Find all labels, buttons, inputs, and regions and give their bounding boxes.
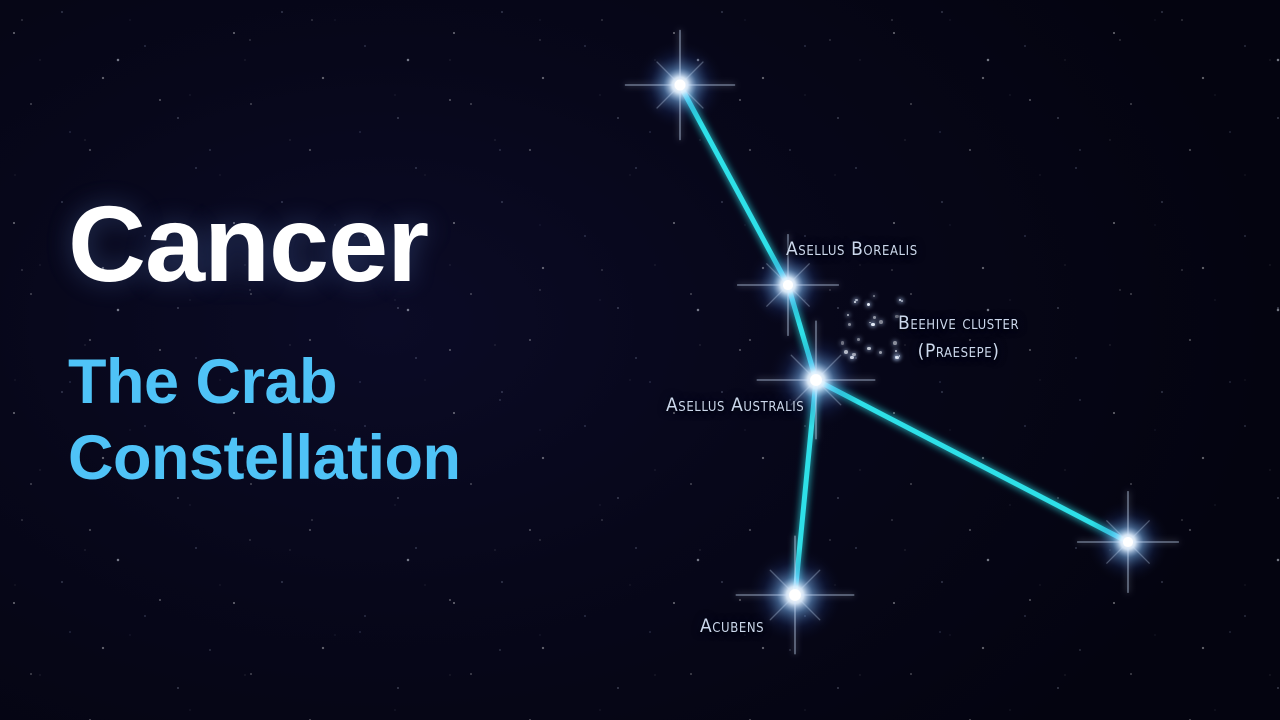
cluster-label-beehive: Beehive cluster (Praesepe) (898, 310, 1019, 365)
cluster-label-line-1: Beehive cluster (898, 312, 1019, 334)
subtitle-line-2: Constellation (68, 426, 461, 490)
star-altarf (1078, 492, 1179, 593)
star-iota-cancri (625, 30, 734, 139)
constellation-line-asellus-australis-to-altarf (816, 380, 1128, 542)
star-label-asellus-australis: Asellus Australis (666, 394, 804, 416)
star-asellus-australis (757, 321, 875, 439)
subtitle-block: The Crab Constellation (68, 350, 461, 491)
title-block: Cancer The Crab Constellation (68, 190, 461, 491)
star-label-asellus-borealis: Asellus Borealis (786, 238, 918, 260)
cluster-label-line-2: (Praesepe) (898, 338, 1019, 366)
constellation-poster: Cancer The Crab Constellation Asellus Bo… (0, 0, 1280, 720)
subtitle-line-1: The Crab (68, 350, 461, 414)
star-label-acubens: Acubens (700, 615, 764, 637)
page-title: Cancer (68, 190, 461, 298)
